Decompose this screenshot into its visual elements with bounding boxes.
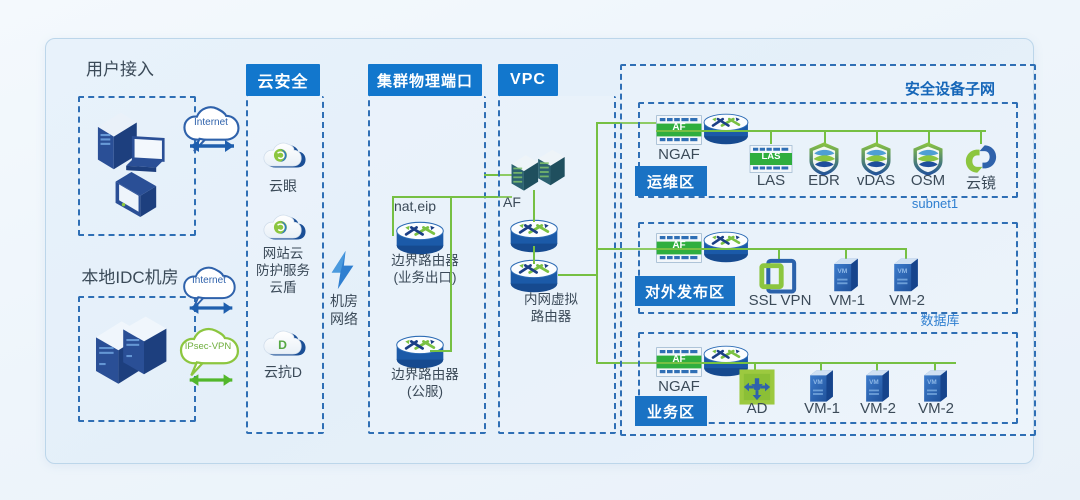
ops-ngaf-label: NGAF [648, 146, 710, 163]
cloudmirror-label: 云镜 [955, 172, 1007, 193]
business-vm3-label: VM-2 [908, 400, 964, 417]
ad-label: AD [732, 400, 782, 417]
wire-cluster-right-v [450, 196, 452, 352]
subnet1-label: subnet1 [890, 196, 980, 211]
internet-label-top: Internet [181, 117, 241, 129]
publish-vm1-icon [832, 256, 860, 294]
user-access-title: 用户接入 [60, 60, 180, 80]
machine-room-network-label: 机房网络 [324, 293, 364, 328]
publish-router-icon [700, 228, 752, 264]
wire-cluster-top-h [392, 196, 512, 198]
database-label: 数据库 [895, 310, 985, 329]
cloud-antiddos-label: 云抗D [248, 362, 318, 382]
osm-label: OSM [903, 172, 953, 189]
cloud-eye-icon [261, 140, 307, 172]
business-ngaf-label: NGAF [648, 378, 710, 395]
zone-tag-business: 业务区 [635, 396, 707, 426]
edr-label: EDR [799, 172, 849, 189]
security-subnet-title: 安全设备子网 [880, 78, 1020, 99]
wire-af-to-router [533, 190, 535, 222]
business-vm3-icon [922, 368, 949, 404]
internet-arrow-top-icon [180, 138, 244, 154]
af-label: AF [503, 194, 537, 210]
border-router-business-icon [392, 218, 448, 256]
zone-tag-ops: 运维区 [635, 166, 707, 196]
wire-row1-bus [656, 130, 986, 132]
wire-vpc-out [558, 274, 596, 276]
vdas-label: vDAS [849, 172, 903, 189]
border-router-public-label: 边界路由器 (公服) [368, 367, 482, 401]
border-router-business-label: 边界路由器 (业务出口) [368, 253, 482, 287]
cloud-security-header: 云安全 [246, 64, 320, 96]
ipsec-vpn-label: IPsec-VPN [176, 341, 240, 352]
business-vm1-icon [808, 368, 835, 404]
ops-router-icon [700, 110, 752, 146]
cluster-port-header: 集群物理端口 [368, 64, 482, 96]
sslvpn-label: SSL VPN [742, 292, 818, 309]
wire-row1-drop-las [770, 130, 772, 144]
lightning-bolt-icon [330, 250, 356, 290]
cloud-shield-label: 网站云 防护服务 云盾 [248, 246, 318, 297]
wire-row2-bus [656, 248, 906, 250]
local-idc-title: 本地IDC机房 [60, 268, 200, 288]
diagram-canvas: VM D [0, 0, 1080, 500]
user-devices-icon [82, 98, 188, 230]
wire-cluster-left-v [392, 196, 394, 236]
business-vm2-icon [864, 368, 891, 404]
cloud-eye-label: 云眼 [250, 176, 316, 196]
wire-cluster-bottom-h [430, 350, 452, 352]
ipsec-arrow-icon [180, 372, 242, 388]
publish-vm1-label: VM-1 [819, 292, 875, 309]
wire-row3-bus [656, 362, 956, 364]
wire-router-to-router [533, 246, 535, 264]
idc-servers-icon [88, 305, 184, 405]
zone-tag-publish: 对外发布区 [635, 276, 735, 306]
internet-arrow-bottom-icon [180, 300, 242, 316]
publish-vm2-label: VM-2 [879, 292, 935, 309]
las-badge: LAS [748, 151, 794, 162]
vpc-header: VPC [498, 64, 558, 96]
internal-virtual-router-label: 内网虚拟 路由器 [496, 292, 606, 326]
cloud-shield-icon [261, 212, 307, 244]
internet-label-bottom: Internet [181, 275, 237, 287]
cloud-antiddos-icon [261, 328, 307, 360]
business-vm2-label: VM-2 [850, 400, 906, 417]
business-vm1-label: VM-1 [794, 400, 850, 417]
af-server-stack-icon [508, 148, 570, 196]
wire-vpc-trunk-v [596, 122, 598, 364]
nat-eip-label: nat,eip [380, 198, 450, 214]
publish-vm2-icon [892, 256, 920, 294]
las-label: LAS [746, 172, 796, 189]
